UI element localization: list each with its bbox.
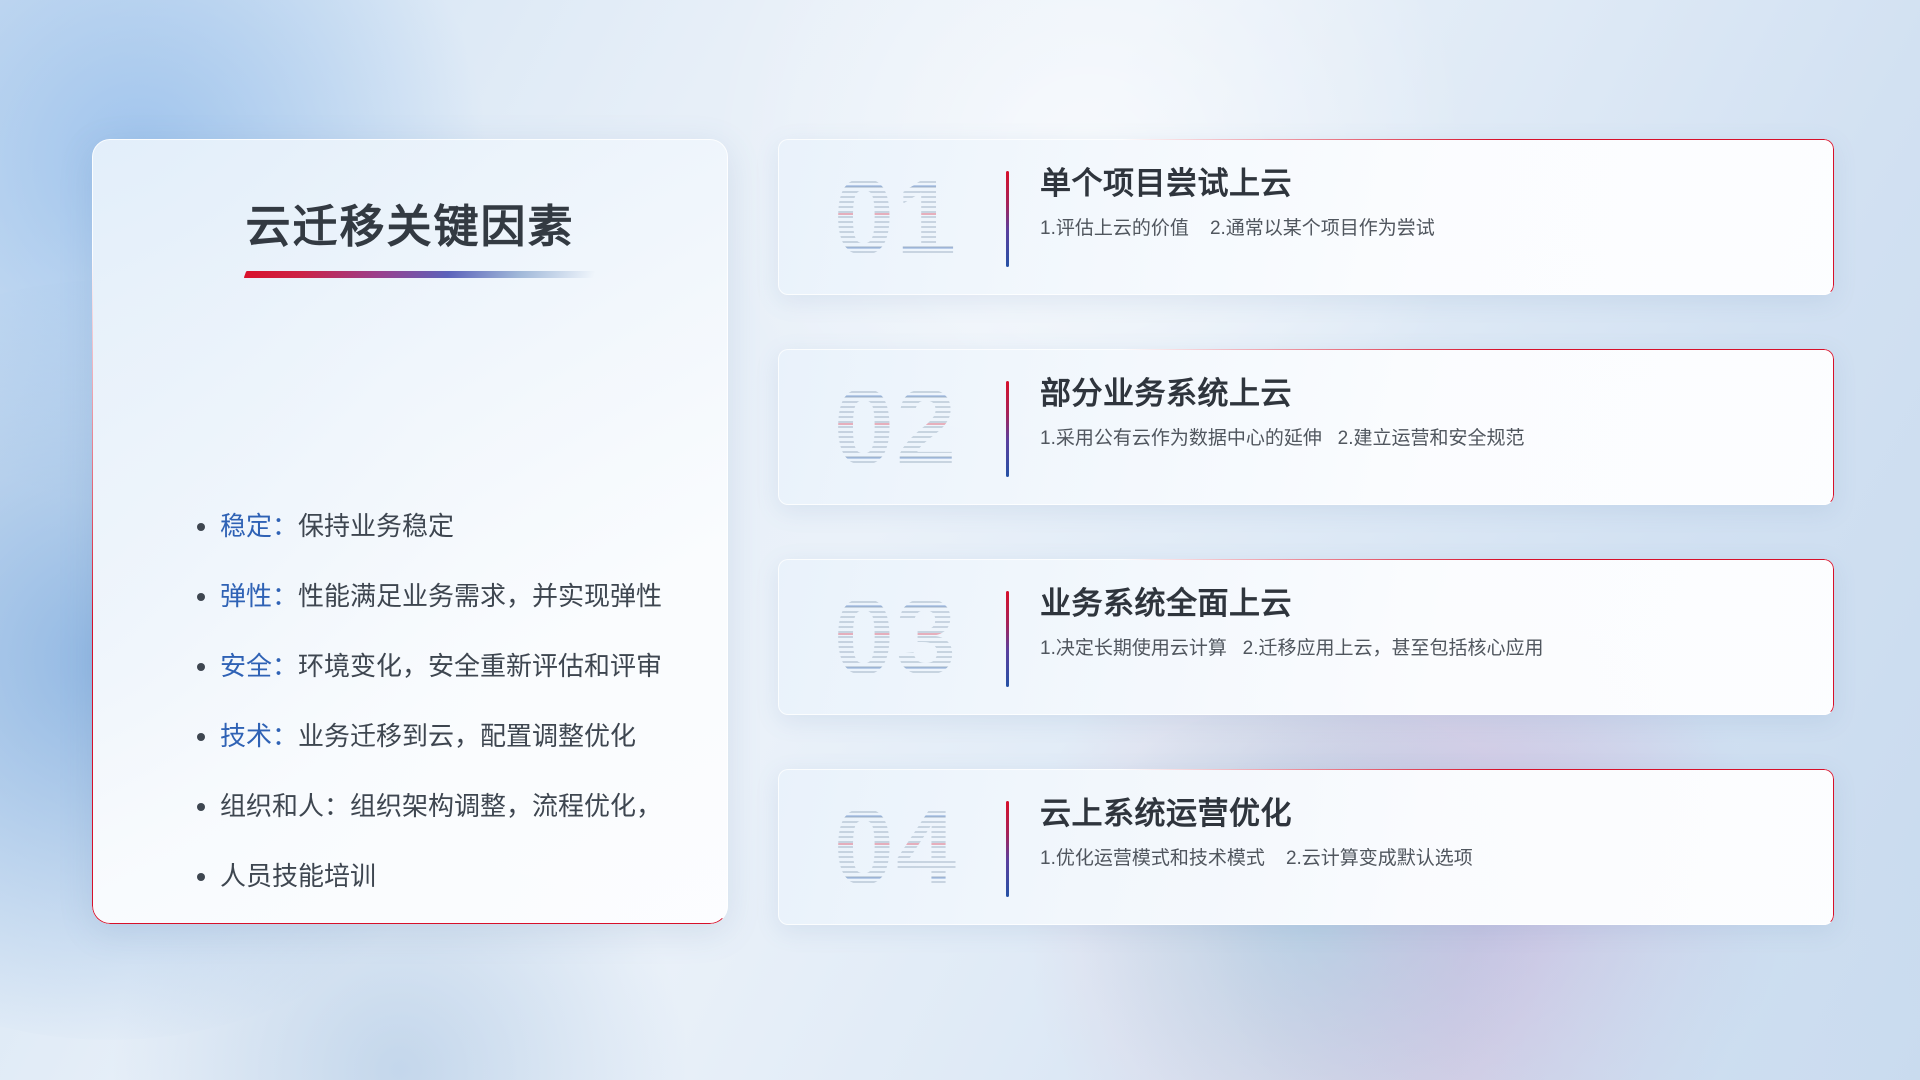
key-factor-line: 组织和人：组织架构调整，流程优化， [220,793,700,819]
card-divider-bar [1006,171,1009,267]
card-subtitle: 1.优化运营模式和技术模式 2.云计算变成默认选项 [1040,847,1812,872]
key-factor-label: 技术： [220,721,298,751]
panel-title-underline-bar [244,271,597,278]
card-subtitle: 1.决定长期使用云计算 2.迁移应用上云，甚至包括核心应用 [1040,637,1812,662]
card-title: 部分业务系统上云 [1040,375,1812,414]
card-divider-bar [1006,801,1009,897]
key-factor-text: 性能满足业务需求，并实现弹性 [298,581,662,611]
key-factor-line: 安全：环境变化，安全重新评估和评审 [220,653,700,679]
card-step-number-scanline-tint: 04 [816,781,976,913]
cloud-migration-stage-cards: 0101单个项目尝试上云1.评估上云的价值 2.通常以某个项目作为尝试0202部… [778,139,1834,925]
card-body: 云上系统运营优化1.优化运营模式和技术模式 2.云计算变成默认选项 [1040,795,1812,871]
card-step-number-scanline-tint: 03 [816,571,976,703]
key-factors-panel: 云迁移关键因素 稳定：保持业务稳定弹性：性能满足业务需求，并实现弹性安全：环境变… [92,139,728,924]
panel-title: 云迁移关键因素 [92,190,728,255]
card-body: 部分业务系统上云1.采用公有云作为数据中心的延伸 2.建立运营和安全规范 [1040,375,1812,451]
card-body: 业务系统全面上云1.决定长期使用云计算 2.迁移应用上云，甚至包括核心应用 [1040,585,1812,661]
key-factor-text: 业务迁移到云，配置调整优化 [298,721,636,751]
card-step-number-scanline-tint: 02 [816,361,976,493]
key-factor-label: 组织和人： [220,791,350,821]
stage-card[interactable]: 0101单个项目尝试上云1.评估上云的价值 2.通常以某个项目作为尝试 [778,139,1834,295]
key-factor-line: 人员技能培训 [220,863,700,889]
key-factor-line: 稳定：保持业务稳定 [220,513,700,539]
key-factor-label: 弹性： [220,581,298,611]
card-body: 单个项目尝试上云1.评估上云的价值 2.通常以某个项目作为尝试 [1040,165,1812,241]
card-title: 云上系统运营优化 [1040,795,1812,834]
card-divider-bar [1006,381,1009,477]
key-factor-text: 组织架构调整，流程优化， [350,791,662,821]
key-factor-label: 稳定： [220,511,298,541]
card-title: 单个项目尝试上云 [1040,165,1812,204]
card-subtitle: 1.评估上云的价值 2.通常以某个项目作为尝试 [1040,217,1812,242]
card-subtitle: 1.采用公有云作为数据中心的延伸 2.建立运营和安全规范 [1040,427,1812,452]
key-factor-line: 弹性：性能满足业务需求，并实现弹性 [220,583,700,609]
stage-card[interactable]: 0202部分业务系统上云1.采用公有云作为数据中心的延伸 2.建立运营和安全规范 [778,349,1834,505]
card-title: 业务系统全面上云 [1040,585,1812,624]
key-factor-text: 人员技能培训 [220,861,376,891]
key-factor-text: 保持业务稳定 [298,511,454,541]
key-factor-label: 安全： [220,651,298,681]
card-step-number-scanline-tint: 01 [816,151,976,283]
stage-card[interactable]: 0404云上系统运营优化1.优化运营模式和技术模式 2.云计算变成默认选项 [778,769,1834,925]
stage-card[interactable]: 0303业务系统全面上云1.决定长期使用云计算 2.迁移应用上云，甚至包括核心应… [778,559,1834,715]
key-factor-line: 技术：业务迁移到云，配置调整优化 [220,723,700,749]
key-factors-list: 稳定：保持业务稳定弹性：性能满足业务需求，并实现弹性安全：环境变化，安全重新评估… [220,513,700,889]
slide-canvas: 云迁移关键因素 稳定：保持业务稳定弹性：性能满足业务需求，并实现弹性安全：环境变… [0,0,1920,1080]
card-divider-bar [1006,591,1009,687]
key-factor-text: 环境变化，安全重新评估和评审 [298,651,662,681]
